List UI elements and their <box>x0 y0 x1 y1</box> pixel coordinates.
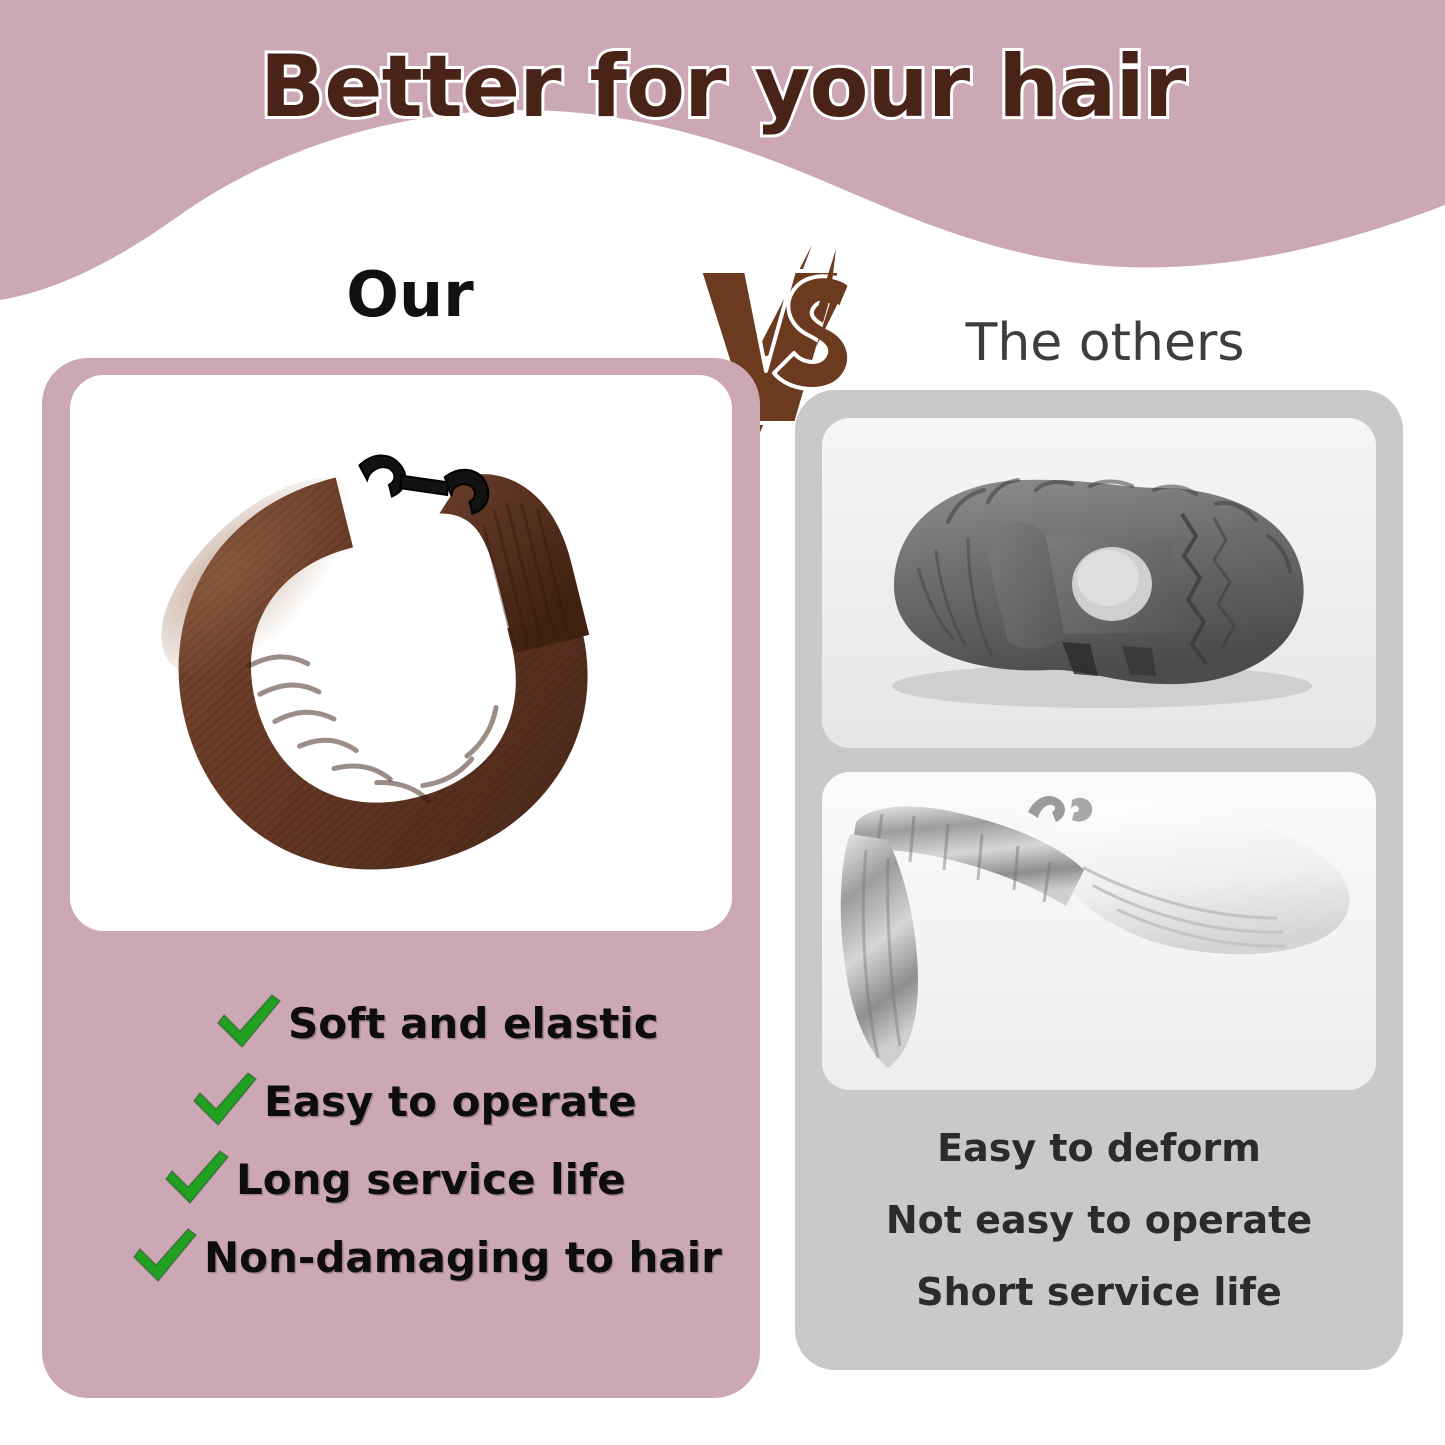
others-photo-card <box>822 772 1376 1090</box>
ours-product-card <box>70 375 732 931</box>
benefits-list: Soft and elastic Easy to operate Long se… <box>42 984 760 1296</box>
others-product-image-1 <box>822 418 1376 748</box>
page-title: Better for your hair <box>0 44 1445 130</box>
benefit-label: Soft and elastic <box>288 999 659 1048</box>
benefit-item: Long service life <box>42 1140 760 1218</box>
benefit-item: Non-damaging to hair <box>42 1218 760 1296</box>
drawbacks-list: Easy to deform Not easy to operate Short… <box>795 1112 1403 1328</box>
drawback-item: Short service life <box>795 1256 1403 1328</box>
benefit-label: Non-damaging to hair <box>204 1233 722 1282</box>
check-icon <box>190 1071 264 1131</box>
benefit-item: Soft and elastic <box>42 984 760 1062</box>
benefit-label: Easy to operate <box>264 1077 637 1126</box>
others-panel: Easy to deform Not easy to operate Short… <box>795 390 1403 1370</box>
others-photo-card <box>822 418 1376 748</box>
drawback-item: Easy to deform <box>795 1112 1403 1184</box>
others-column-heading: The others <box>905 313 1305 373</box>
ours-product-image <box>70 375 732 931</box>
check-icon <box>130 1227 204 1287</box>
infographic-canvas: Better for your hair Our The others <box>0 0 1445 1445</box>
check-icon <box>214 993 288 1053</box>
others-product-image-2 <box>822 772 1376 1090</box>
check-icon <box>162 1149 236 1209</box>
drawback-item: Not easy to operate <box>795 1184 1403 1256</box>
benefit-item: Easy to operate <box>42 1062 760 1140</box>
ours-panel: Soft and elastic Easy to operate Long se… <box>42 358 760 1398</box>
benefit-label: Long service life <box>236 1155 626 1204</box>
ours-column-heading: Our <box>250 258 570 331</box>
